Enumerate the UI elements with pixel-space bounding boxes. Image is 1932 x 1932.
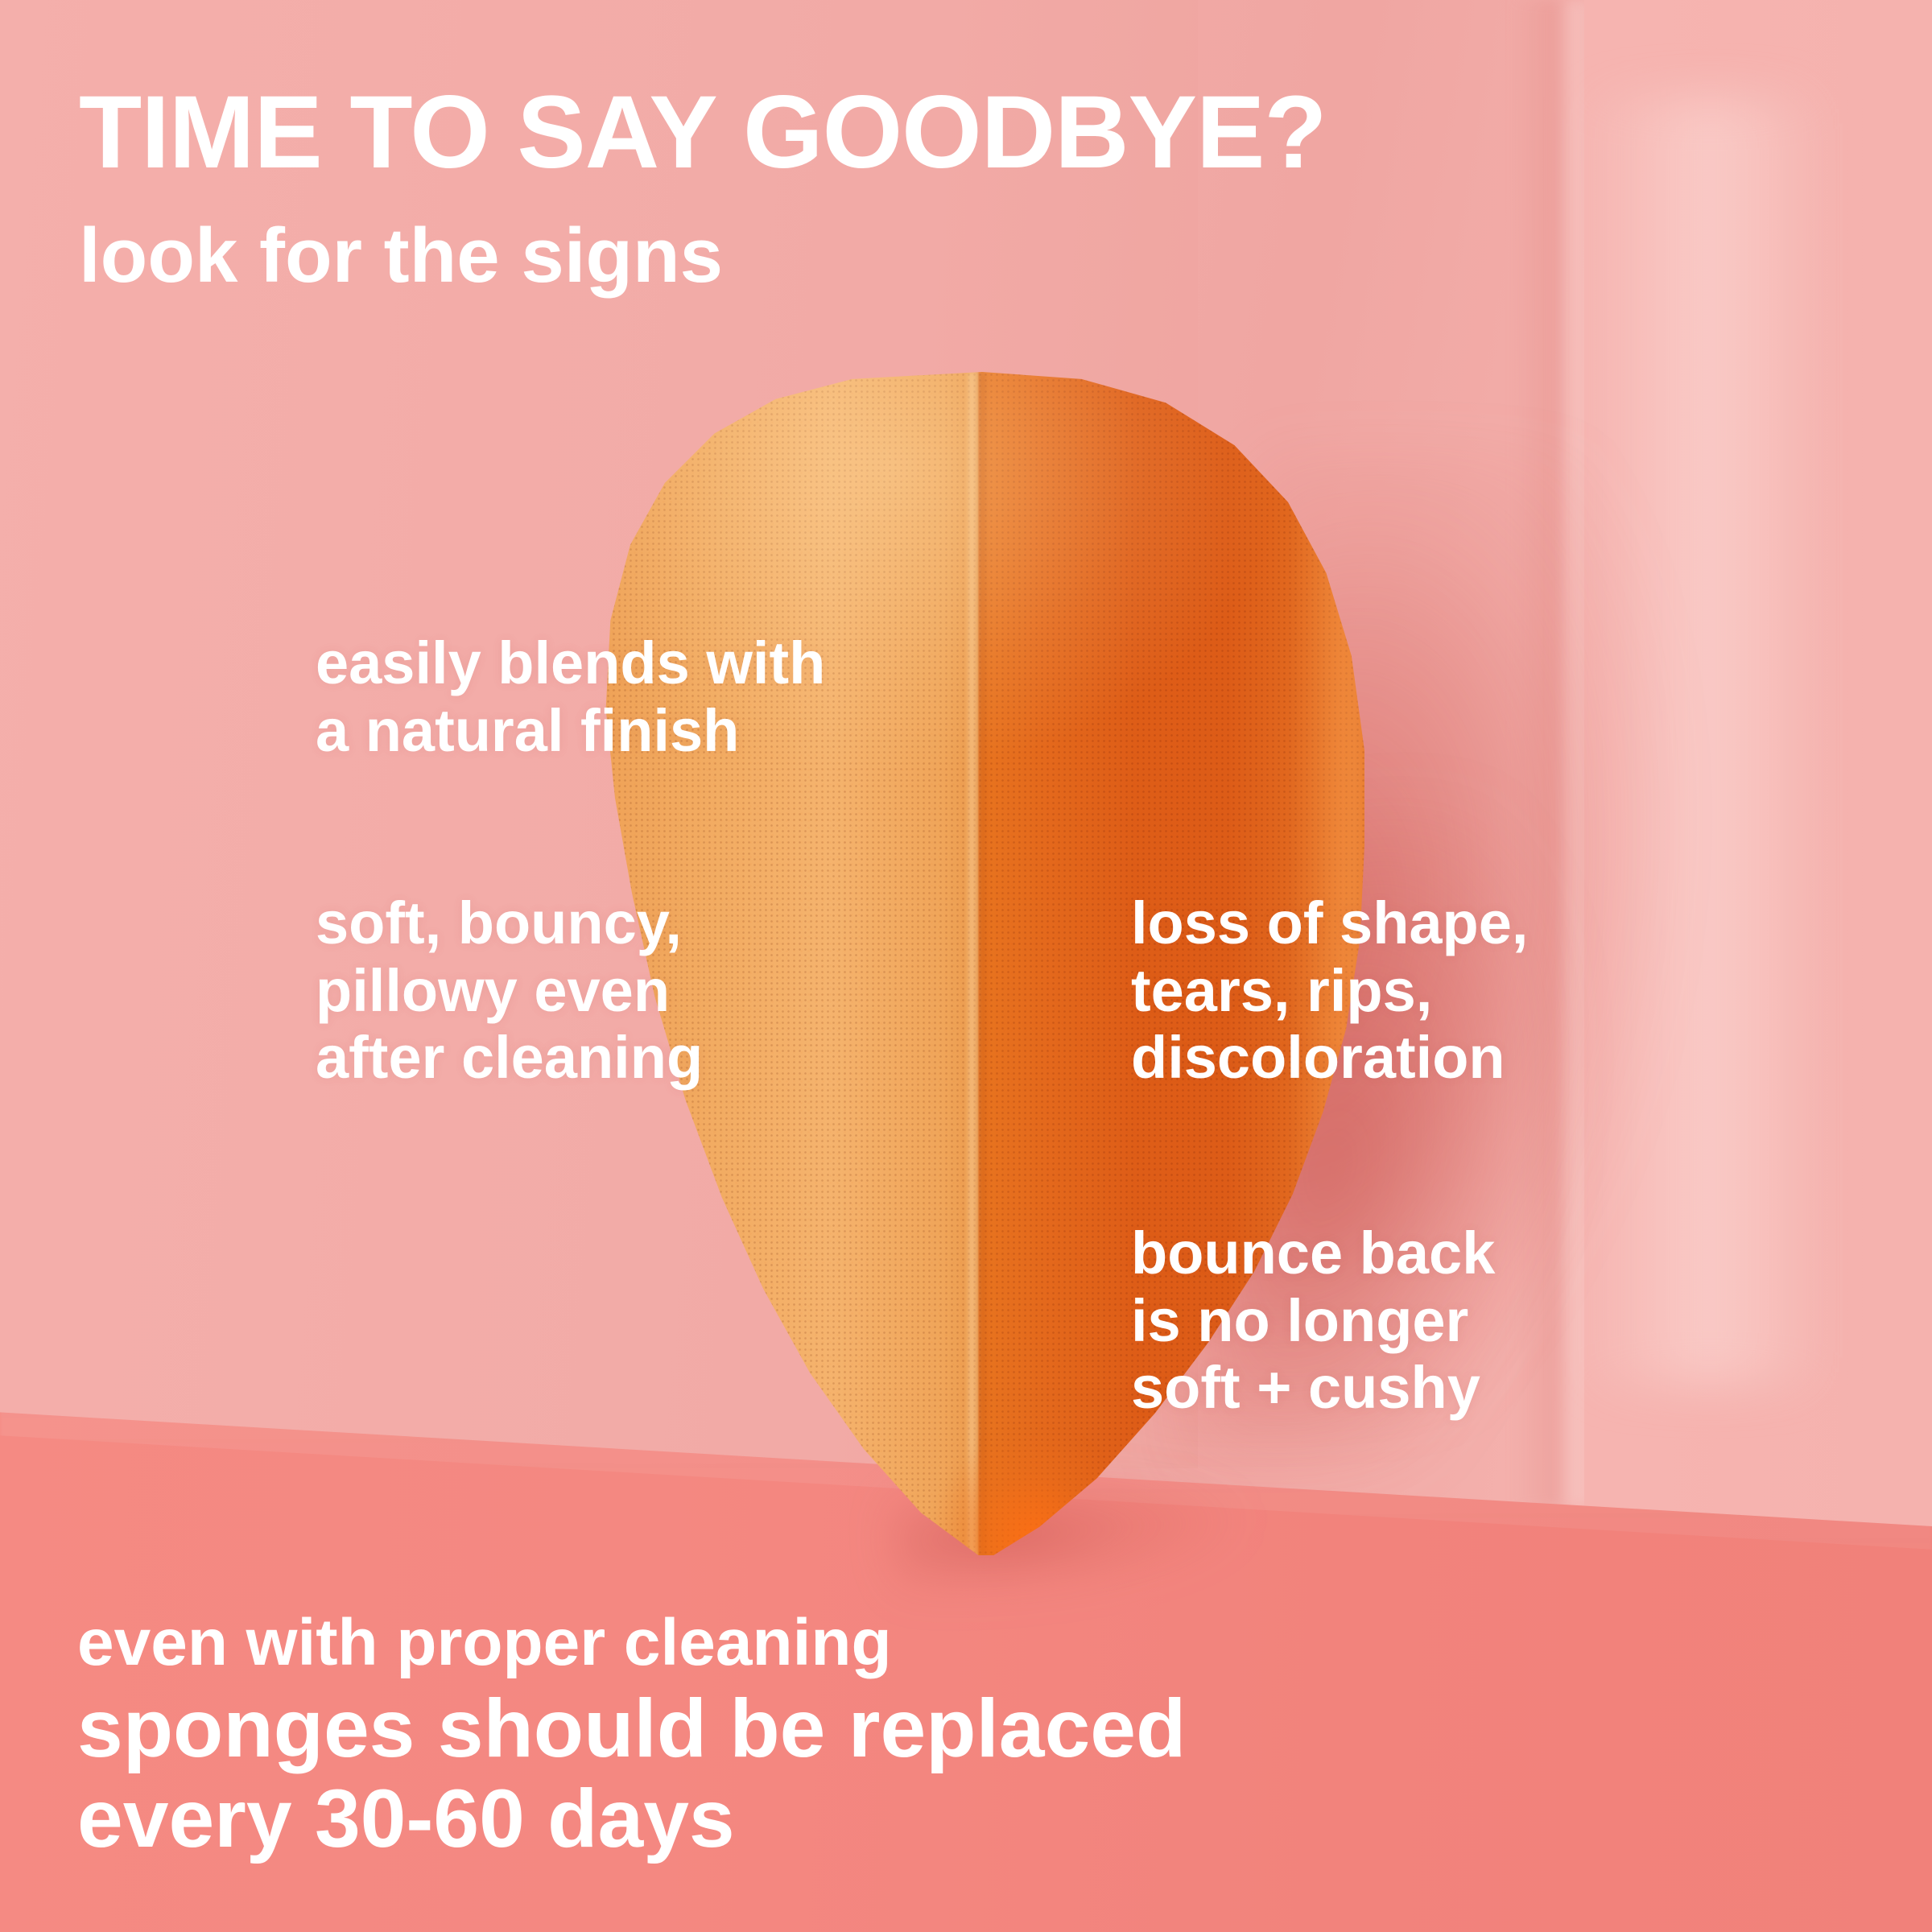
footer-emphasis-text: sponges should be replaced every 30-60 d…: [77, 1683, 1186, 1864]
sponge-rim-light: [1288, 419, 1364, 1248]
footer-lead-text: even with proper cleaning: [77, 1608, 1186, 1678]
annotation-good-feel: soft, bouncy, pillowy even after cleanin…: [316, 890, 703, 1092]
page-subtitle: look for the signs: [79, 216, 723, 296]
page-title: TIME TO SAY GOODBYE?: [79, 80, 1327, 186]
poster-canvas: TIME TO SAY GOODBYE? look for the signs …: [0, 0, 1932, 1932]
annotation-bad-bounce: bounce back is no longer soft + cushy: [1131, 1220, 1495, 1422]
footer-block: even with proper cleaning sponges should…: [77, 1608, 1186, 1864]
sponge-bottom-tip: [890, 1366, 1120, 1555]
annotation-good-blend: easily blends with a natural finish: [316, 630, 825, 764]
annotation-bad-shape: loss of shape, tears, rips, discoloratio…: [1131, 890, 1528, 1092]
